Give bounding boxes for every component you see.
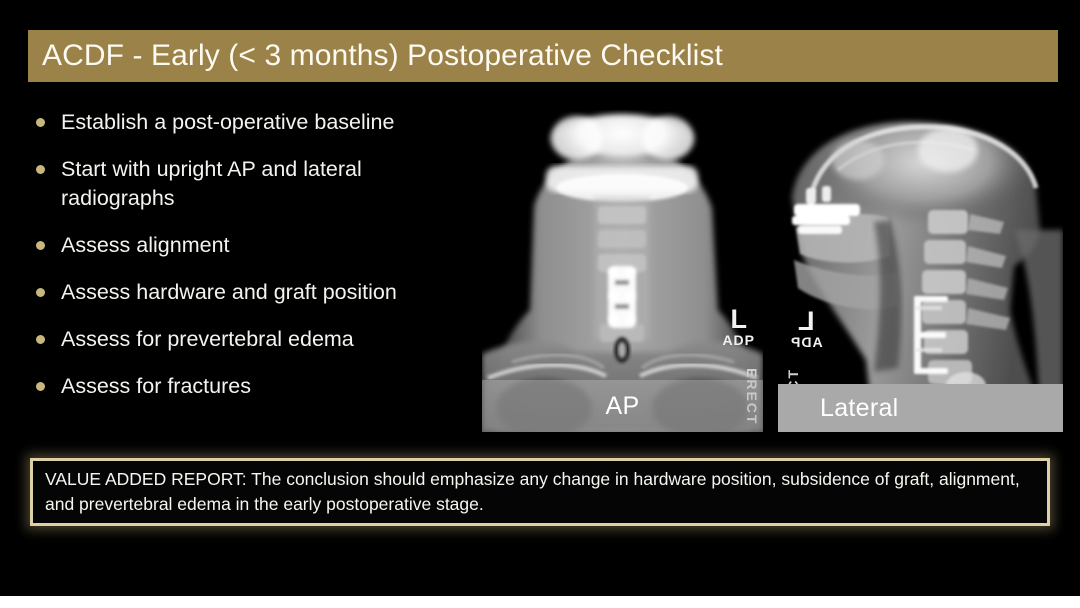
radiograph-ap: L ADP ERECT AP (482, 110, 763, 432)
page-title: ACDF - Early (< 3 months) Postoperative … (42, 39, 723, 73)
list-item-label: Establish a post-operative baseline (61, 108, 394, 137)
checklist-bullet-list: Establish a post-operative baseline Star… (36, 108, 466, 419)
list-item-label: Start with upright AP and lateral radiog… (61, 155, 466, 213)
radiograph-ap-view-label: AP (606, 392, 640, 421)
radiograph-lateral-view-label: Lateral (820, 394, 899, 423)
list-item: Assess hardware and graft position (36, 278, 466, 307)
bullet-dot-icon (36, 241, 45, 250)
value-added-report-callout: VALUE ADDED REPORT: The conclusion shoul… (30, 458, 1050, 526)
list-item-label: Assess for fractures (61, 372, 251, 401)
bullet-dot-icon (36, 165, 45, 174)
list-item: Start with upright AP and lateral radiog… (36, 155, 466, 213)
bullet-dot-icon (36, 335, 45, 344)
list-item: Assess alignment (36, 231, 466, 260)
list-item-label: Assess for prevertebral edema (61, 325, 354, 354)
bullet-dot-icon (36, 118, 45, 127)
radiograph-lateral-caption-band: Lateral (778, 384, 1063, 432)
value-added-report-text: VALUE ADDED REPORT: The conclusion shoul… (45, 467, 1035, 517)
radiograph-lateral: L ADP ERECT Lateral (778, 110, 1063, 432)
list-item: Assess for fractures (36, 372, 466, 401)
bullet-dot-icon (36, 288, 45, 297)
bullet-dot-icon (36, 382, 45, 391)
list-item: Assess for prevertebral edema (36, 325, 466, 354)
list-item-label: Assess hardware and graft position (61, 278, 397, 307)
radiograph-ap-caption-band: AP (482, 380, 763, 432)
list-item-label: Assess alignment (61, 231, 230, 260)
presentation-slide: ACDF - Early (< 3 months) Postoperative … (0, 0, 1080, 596)
slide-title-bar: ACDF - Early (< 3 months) Postoperative … (28, 30, 1058, 82)
list-item: Establish a post-operative baseline (36, 108, 466, 137)
page-footer (0, 596, 1080, 608)
